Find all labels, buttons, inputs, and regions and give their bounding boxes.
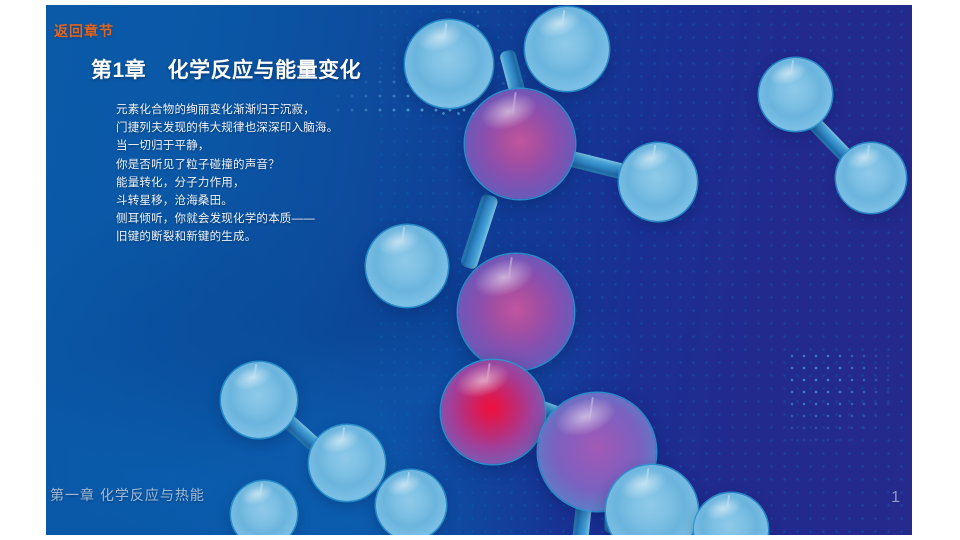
poem-line: 你是否听见了粒子碰撞的声音？ [116, 156, 546, 174]
poem-line: 门捷列夫发现的伟大规律也深深印入脑海。 [116, 119, 546, 137]
atom-right-blue [619, 143, 697, 221]
slide-canvas: 返回章节 第1章 化学反应与能量变化 元素化合物的绚丽变化渐渐归于沉寂，门捷列夫… [46, 5, 912, 535]
atom-top-left-blue [405, 20, 493, 108]
poem-block: 元素化合物的绚丽变化渐渐归于沉寂，门捷列夫发现的伟大规律也深深印入脑海。当一切归… [116, 101, 546, 247]
atom-bottom-left-blue [231, 481, 297, 535]
atom-highlight-seam [645, 468, 650, 488]
poem-line: 当一切归于平静， [116, 137, 546, 155]
atom-lower-mid-blue [309, 425, 385, 501]
atom-top-mid-blue [525, 7, 609, 91]
atom-highlight-seam [406, 472, 410, 488]
atom-lower-left-blue [221, 362, 297, 438]
poem-line: 元素化合物的绚丽变化渐渐归于沉寂， [116, 101, 546, 119]
poem-line: 能量转化，分子力作用， [116, 174, 546, 192]
atom-mid-purple [458, 254, 574, 370]
atom-highlight-seam [866, 145, 870, 161]
atom-highlight-seam [507, 257, 513, 283]
page-title: 第1章 化学反应与能量变化 [91, 54, 361, 84]
atom-bottom-mid-blue [376, 470, 446, 535]
atom-low-red [441, 360, 545, 464]
page-number: 1 [891, 489, 900, 507]
poem-line: 侧耳倾听，你就会发现化学的本质—— [116, 210, 546, 228]
poem-line: 斗转星移，沧海桑田。 [116, 192, 546, 210]
atom-highlight-seam [341, 427, 345, 444]
atom-far-right-blue [759, 58, 832, 131]
atom-highlight-seam [652, 145, 656, 162]
back-to-chapters-link[interactable]: 返回章节 [54, 21, 114, 41]
atom-highlight-seam [253, 364, 257, 381]
atom-highlight-seam [790, 60, 794, 76]
atom-highlight-seam [725, 495, 729, 511]
molecule-illustration [46, 5, 912, 535]
atom-bottom-far-blue [694, 493, 768, 535]
atom-far-right-low-blue [836, 143, 906, 213]
atom-highlight-seam [561, 9, 566, 28]
atom-highlight-seam [485, 363, 490, 386]
atom-highlight-seam [442, 23, 447, 42]
atom-highlight-seam [588, 397, 594, 423]
poem-line: 旧键的断裂和新键的生成。 [116, 228, 546, 246]
atom-highlight-seam [259, 483, 263, 498]
footer-chapter-label: 第一章 化学反应与热能 [50, 485, 205, 505]
